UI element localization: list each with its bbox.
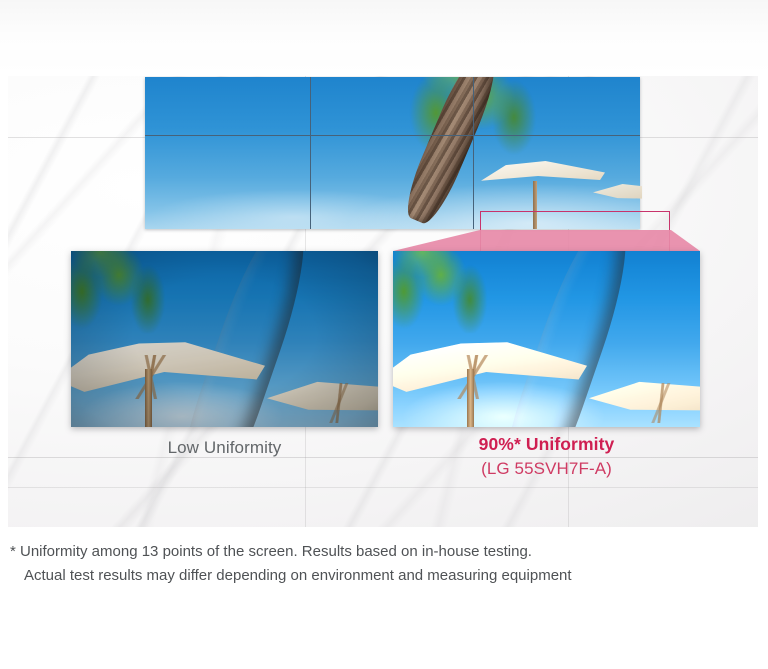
footnote-line-1: * Uniformity among 13 points of the scre… — [10, 540, 762, 564]
wall-panel-art — [474, 136, 640, 229]
wall-panel-art — [145, 136, 310, 229]
marble-wall-background: Low Uniformity 90%* Uniformity (LG 55SVH… — [8, 76, 758, 527]
funnel-polygon — [393, 230, 700, 251]
caption-uniformity-value: 90%* Uniformity — [393, 434, 700, 455]
sky-backdrop — [145, 136, 310, 229]
beach-umbrella-secondary-ribs — [593, 383, 700, 423]
video-wall-panel-3 — [474, 77, 642, 135]
video-wall-panel-2 — [311, 77, 473, 135]
footnote: * Uniformity among 13 points of the scre… — [10, 540, 762, 588]
caption-low-uniformity: Low Uniformity — [71, 438, 378, 458]
beach-umbrella-ribs — [399, 355, 549, 399]
video-wall-panel-6-highlighted — [474, 136, 642, 230]
footnote-line-2: Actual test results may differ depending… — [10, 564, 762, 588]
uniformity-vignette-overlay — [71, 251, 378, 427]
sky-backdrop — [145, 77, 310, 135]
palm-fronds — [474, 136, 541, 157]
caption-high-uniformity: 90%* Uniformity (LG 55SVH7F-A) — [393, 434, 700, 479]
comparison-image-high-uniformity — [393, 251, 700, 427]
caption-model-number: (LG 55SVH7F-A) — [393, 459, 700, 479]
beach-umbrella-pole — [533, 181, 537, 229]
beach-umbrella-pole — [467, 369, 474, 427]
video-wall-panel-5 — [311, 136, 473, 230]
video-wall-panel-1 — [145, 77, 310, 135]
beach-photo — [393, 251, 700, 427]
wall-panel-art — [311, 136, 473, 229]
video-wall-display-grid — [145, 77, 640, 229]
top-white-band — [0, 0, 768, 76]
comparison-image-low-uniformity — [71, 251, 378, 427]
video-wall-panel-4 — [145, 136, 310, 230]
wall-panel-art — [311, 77, 473, 135]
palm-fronds — [393, 251, 491, 333]
wall-panel-art — [145, 77, 310, 135]
wall-panel-art — [474, 77, 640, 135]
